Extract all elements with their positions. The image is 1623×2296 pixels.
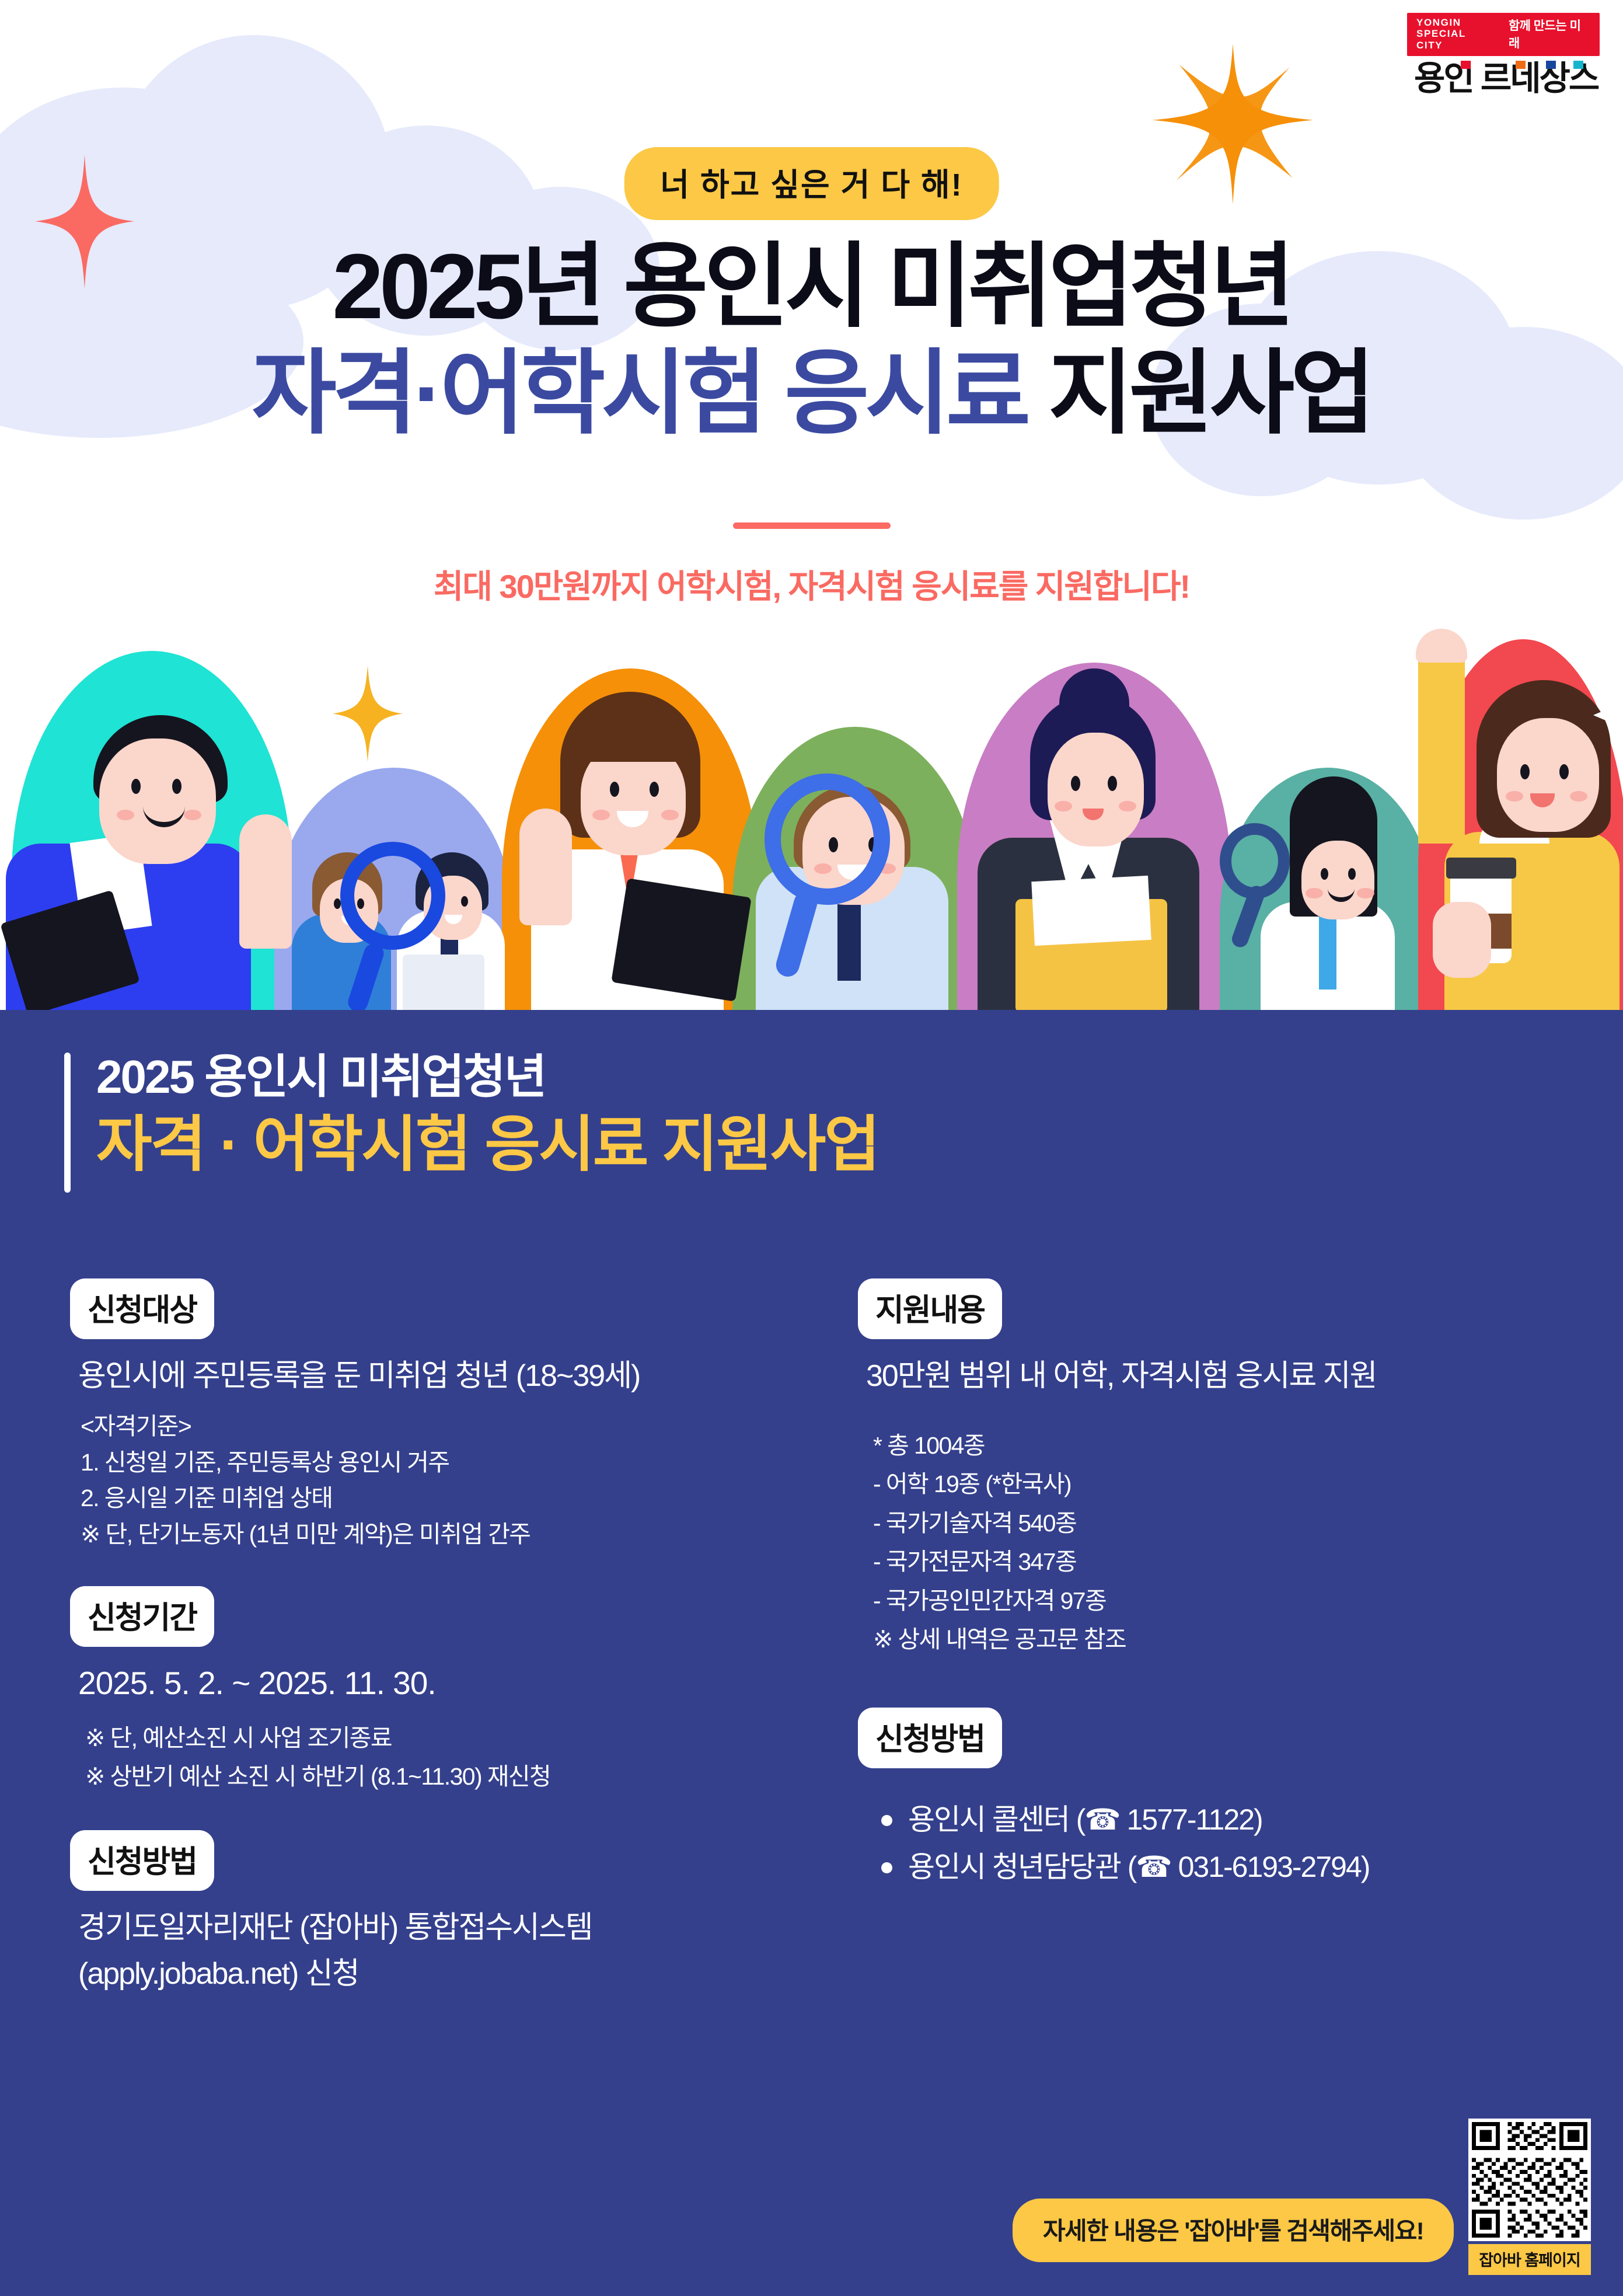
left-column: 신청대상 용인시에 주민등록을 둔 미취업 청년 (18~39세) <자격기준>… xyxy=(70,1278,811,2031)
section-heading: 2025 용인시 미취업청년 자격 · 어학시험 응시료 지원사업 xyxy=(64,1048,878,1184)
target-lead: 용인시에 주민등록을 둔 미취업 청년 (18~39세) xyxy=(70,1353,811,1399)
title-line-1: 2025년 용인시 미취업청년 xyxy=(0,234,1623,340)
period-note: ※ 상반기 예산 소진 시 하반기 (8.1~11.30) 재신청 xyxy=(85,1757,811,1796)
contact-item: 용인시 청년담당관 (☎ 031-6193-2794) xyxy=(878,1844,1576,1891)
qr-code-icon[interactable] xyxy=(1468,2119,1591,2241)
criteria-item: 1. 신청일 기준, 주민등록상 용인시 거주 xyxy=(81,1445,811,1481)
block-support: 지원내용 30만원 범위 내 어학, 자격시험 응시료 지원 * 총 1004종… xyxy=(858,1278,1576,1659)
support-detail: - 국가기술자격 540종 xyxy=(873,1504,1576,1542)
person-illustration xyxy=(286,814,514,1013)
logo-color-dots xyxy=(1407,61,1600,69)
qr-block: 잡아바 홈페이지 xyxy=(1468,2119,1591,2275)
contact-item: 용인시 콜센터 (☎ 1577-1122) xyxy=(878,1796,1576,1844)
tagline-badge: 너 하고 싶은 거 다 해! xyxy=(624,147,999,220)
method-line: (apply.jobaba.net) 신청 xyxy=(70,1951,811,1997)
period-note: ※ 단, 예산소진 시 사업 조기종료 xyxy=(85,1719,811,1757)
support-detail: - 국가전문자격 347종 xyxy=(873,1542,1576,1581)
title-blue-part: 자격·어학시험 응시료 xyxy=(252,342,1027,445)
period-dates: 2025. 5. 2. ~ 2025. 11. 30. xyxy=(70,1661,811,1706)
title-black-part: 지원사업 xyxy=(1048,342,1371,445)
pill-method-right: 신청방법 xyxy=(858,1708,1002,1768)
method-line: 경기도일자리재단 (잡아바) 통합접수시스템 xyxy=(70,1905,811,1951)
logo-red-band: YONGINSPECIAL CITY 함께 만드는 미래 xyxy=(1407,13,1600,56)
criteria-item: 2. 응시일 기준 미취업 상태 xyxy=(81,1480,811,1517)
block-method-left: 신청방법 경기도일자리재단 (잡아바) 통합접수시스템 (apply.jobab… xyxy=(70,1830,811,1997)
page-title: 2025년 용인시 미취업청년 자격·어학시험 응시료 지원사업 xyxy=(0,234,1623,448)
person-illustration xyxy=(730,738,986,1013)
block-method-right: 신청방법 용인시 콜센터 (☎ 1577-1122) 용인시 청년담당관 (☎ … xyxy=(858,1708,1576,1891)
section-heading-small: 2025 용인시 미취업청년 xyxy=(96,1048,878,1106)
yongin-city-logo: YONGINSPECIAL CITY 함께 만드는 미래 용인 르네상스 xyxy=(1407,13,1600,96)
pill-target: 신청대상 xyxy=(70,1278,214,1339)
support-detail: * 총 1004종 xyxy=(873,1426,1576,1465)
contact-list: 용인시 콜센터 (☎ 1577-1122) 용인시 청년담당관 (☎ 031-6… xyxy=(858,1796,1576,1891)
title-divider xyxy=(733,522,891,529)
logo-english-name: YONGINSPECIAL CITY xyxy=(1416,17,1496,50)
person-illustration xyxy=(963,674,1226,1013)
sparkle-icon xyxy=(1153,44,1313,204)
support-detail: - 어학 19종 (*한국사) xyxy=(873,1465,1576,1503)
person-illustration xyxy=(1401,639,1623,1013)
person-illustration xyxy=(6,686,309,1013)
support-details-list: * 총 1004종 - 어학 19종 (*한국사) - 국가기술자격 540종 … xyxy=(858,1426,1576,1659)
support-lead: 30만원 범위 내 어학, 자격시험 응시료 지원 xyxy=(858,1353,1576,1399)
period-notes-list: ※ 단, 예산소진 시 사업 조기종료 ※ 상반기 예산 소진 시 하반기 (8… xyxy=(70,1719,811,1796)
people-illustration xyxy=(0,616,1623,1013)
criteria-item: ※ 단, 단기노동자 (1년 미만 계약)은 미취업 간주 xyxy=(81,1517,811,1553)
poster-root: YONGINSPECIAL CITY 함께 만드는 미래 용인 르네상스 너 하… xyxy=(0,0,1623,2296)
hero-subtitle: 최대 30만원까지 어학시험, 자격시험 응시료를 지원합니다! xyxy=(0,560,1623,608)
target-criteria-list: <자격기준> 1. 신청일 기준, 주민등록상 용인시 거주 2. 응시일 기준… xyxy=(70,1409,811,1552)
hero-section: YONGINSPECIAL CITY 함께 만드는 미래 용인 르네상스 너 하… xyxy=(0,0,1623,1013)
support-detail: ※ 상세 내역은 공고문 참조 xyxy=(873,1620,1576,1659)
details-section: 2025 용인시 미취업청년 자격 · 어학시험 응시료 지원사업 신청대상 용… xyxy=(0,1010,1623,2296)
pill-period: 신청기간 xyxy=(70,1586,214,1647)
magnifier-icon xyxy=(340,842,445,950)
criteria-title: <자격기준> xyxy=(81,1409,811,1445)
support-detail: - 국가공인민간자격 97종 xyxy=(873,1581,1576,1620)
qr-label: 잡아바 홈페이지 xyxy=(1468,2244,1591,2275)
block-target: 신청대상 용인시에 주민등록을 둔 미취업 청년 (18~39세) <자격기준>… xyxy=(70,1278,811,1552)
logo-wordmark: 용인 르네상스 xyxy=(1407,62,1600,96)
pill-method-left: 신청방법 xyxy=(70,1830,214,1891)
section-heading-big: 자격 · 어학시험 응시료 지원사업 xyxy=(96,1106,878,1184)
cta-banner: 자세한 내용은 '잡아바'를 검색해주세요! xyxy=(1013,2199,1454,2262)
magnifier-icon xyxy=(765,774,890,905)
block-period: 신청기간 2025. 5. 2. ~ 2025. 11. 30. ※ 단, 예산… xyxy=(70,1586,811,1796)
right-column: 지원내용 30만원 범위 내 어학, 자격시험 응시료 지원 * 총 1004종… xyxy=(858,1278,1576,1925)
pill-support: 지원내용 xyxy=(858,1278,1002,1339)
logo-slogan: 함께 만드는 미래 xyxy=(1509,16,1591,51)
title-line-2: 자격·어학시험 응시료 지원사업 xyxy=(0,340,1623,447)
